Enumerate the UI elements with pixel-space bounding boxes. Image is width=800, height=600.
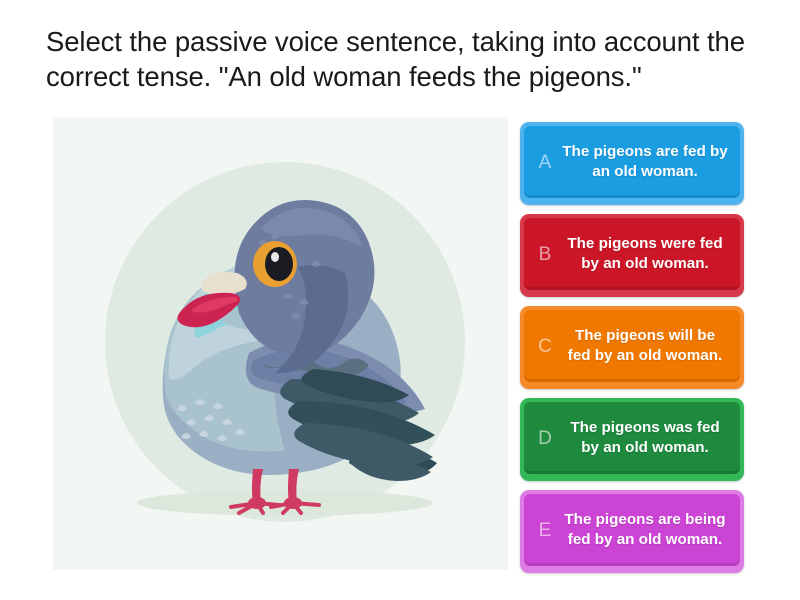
answer-option-d[interactable]: D The pigeons was fed by an old woman. [520, 398, 744, 481]
answer-option-c[interactable]: C The pigeons will be fed by an old woma… [520, 306, 744, 389]
answer-text-d: The pigeons was fed by an old woman. [562, 418, 734, 458]
question-text: Select the passive voice sentence, takin… [46, 24, 758, 94]
answer-option-d-inner: D The pigeons was fed by an old woman. [524, 402, 740, 474]
answer-option-e[interactable]: E The pigeons are being fed by an old wo… [520, 490, 744, 573]
answer-option-e-inner: E The pigeons are being fed by an old wo… [524, 494, 740, 566]
answer-option-b[interactable]: B The pigeons were fed by an old woman. [520, 214, 744, 297]
question-image-panel [53, 117, 508, 570]
answer-letter-a: A [528, 153, 562, 172]
answer-option-a-inner: A The pigeons are fed by an old woman. [524, 126, 740, 198]
question-area: Select the passive voice sentence, takin… [46, 24, 758, 94]
answer-text-a: The pigeons are fed by an old woman. [562, 142, 734, 182]
pigeon-illustration [53, 117, 508, 570]
answer-letter-c: C [528, 337, 562, 356]
answer-option-b-inner: B The pigeons were fed by an old woman. [524, 218, 740, 290]
answer-letter-e: E [528, 521, 562, 540]
answer-text-c: The pigeons will be fed by an old woman. [562, 326, 734, 366]
answer-options-list: A The pigeons are fed by an old woman. B… [520, 122, 744, 573]
answer-text-e: The pigeons are being fed by an old woma… [562, 510, 734, 550]
answer-option-c-inner: C The pigeons will be fed by an old woma… [524, 310, 740, 382]
answer-option-a[interactable]: A The pigeons are fed by an old woman. [520, 122, 744, 205]
answer-letter-b: B [528, 245, 562, 264]
quiz-container: Select the passive voice sentence, takin… [0, 0, 800, 600]
answer-letter-d: D [528, 429, 562, 448]
answer-text-b: The pigeons were fed by an old woman. [562, 234, 734, 274]
